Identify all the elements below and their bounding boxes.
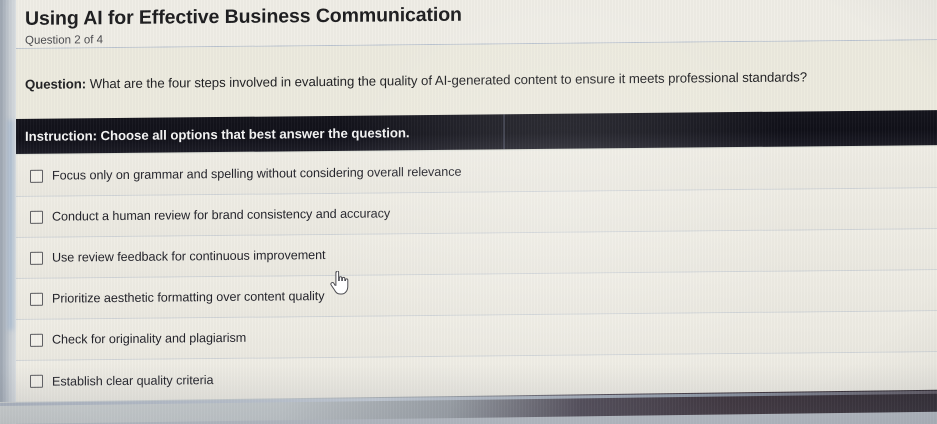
checkbox-icon[interactable] [30,251,43,264]
checkbox-icon[interactable] [30,210,43,223]
bezel-glare [8,120,16,330]
option-label: Conduct a human review for brand consist… [52,205,390,224]
checkbox-icon[interactable] [30,292,43,305]
checkbox-icon[interactable] [30,375,43,388]
checkbox-icon[interactable] [30,169,43,182]
quiz-screen: Using AI for Effective Business Communic… [14,0,937,414]
option-label: Focus only on grammar and spelling witho… [52,164,461,184]
question-body: What are the four steps involved in eval… [86,69,807,91]
panel-seam-artifact [503,114,505,149]
option-label: Prioritize aesthetic formatting over con… [52,288,325,307]
question-section: Question: What are the four steps involv… [14,40,937,119]
screenshot-photo: Using AI for Effective Business Communic… [0,0,937,424]
option-label: Establish clear quality criteria [52,372,214,390]
question-label: Question: [25,76,86,92]
question-text: Question: What are the four steps involv… [25,68,807,93]
checkbox-icon[interactable] [30,333,43,346]
instruction-text: Instruction: Choose all options that bes… [25,125,410,144]
option-label: Check for originality and plagiarism [52,330,246,348]
options-list: Focus only on grammar and spelling witho… [14,147,937,402]
option-label: Use review feedback for continuous impro… [52,247,326,266]
